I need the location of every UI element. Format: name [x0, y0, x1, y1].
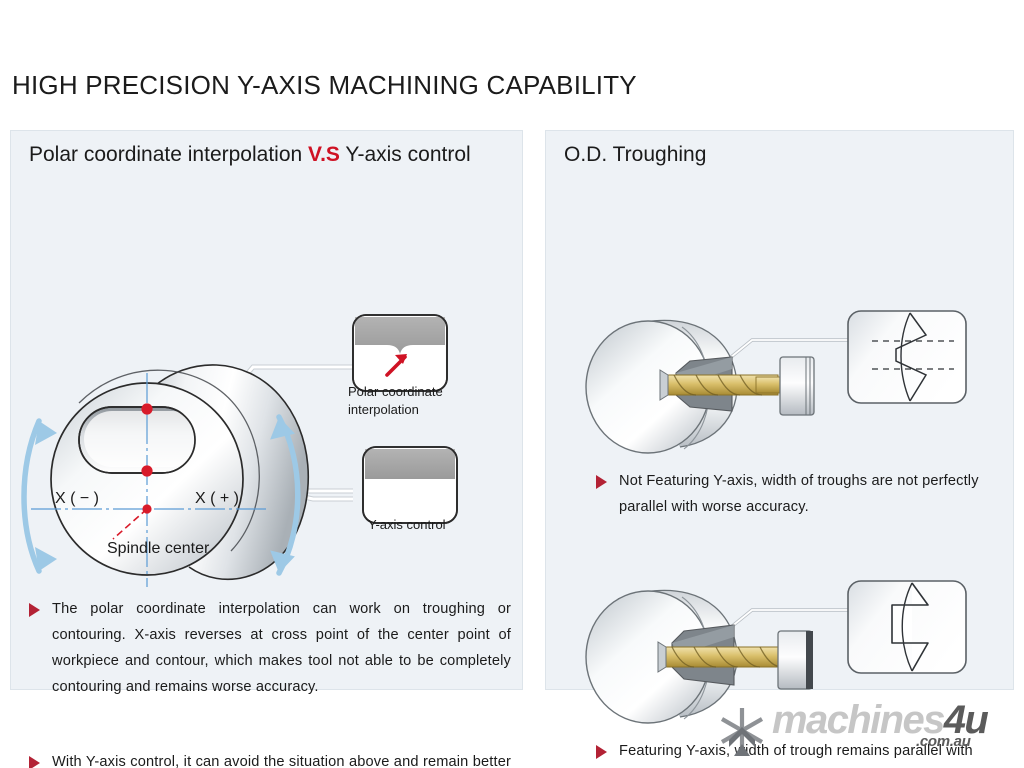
bullet-triangle-icon	[596, 475, 607, 489]
polar-coordinate-callout-box	[353, 315, 447, 391]
end-mill-tool	[660, 370, 782, 400]
cross-point-upper	[141, 403, 152, 414]
bullet-triangle-icon	[29, 603, 40, 617]
asterisk-star-icon	[716, 704, 768, 756]
cross-point-lower	[141, 465, 152, 476]
left-bullet-1-text: The polar coordinate interpolation can w…	[52, 597, 511, 701]
vs-label: V.S	[308, 143, 340, 166]
left-panel-title-part1: Polar coordinate interpolation	[29, 143, 308, 166]
bullet-triangle-icon	[29, 756, 40, 768]
axis-label-x-positive: X ( + )	[195, 490, 239, 507]
left-panel-title: Polar coordinate interpolation V.S Y-axi…	[29, 143, 471, 167]
od-troughing-no-yaxis-diagram	[556, 299, 1006, 464]
trough-detail-box-nonparallel	[848, 311, 966, 403]
left-bullet-1: The polar coordinate interpolation can w…	[29, 597, 511, 701]
polar-coordinate-caption: Polar coordinate interpolation	[348, 383, 508, 418]
right-panel-title: O.D. Troughing	[564, 143, 706, 167]
page-title: HIGH PRECISION Y-AXIS MACHINING CAPABILI…	[12, 70, 637, 101]
axis-label-x-negative: X ( − )	[55, 490, 99, 507]
left-panel-title-part2: Y-axis control	[340, 143, 471, 166]
right-bullet-1-text: Not Featuring Y-axis, width of troughs a…	[619, 469, 996, 521]
panel-polar-vs-yaxis: Polar coordinate interpolation V.S Y-axi…	[10, 130, 523, 690]
slide-root: HIGH PRECISION Y-AXIS MACHINING CAPABILI…	[0, 0, 1024, 768]
machines4u-logo[interactable]: machines4u .com.au	[716, 702, 1016, 756]
y-axis-control-caption: Y-axis control	[368, 516, 528, 534]
bullet-triangle-icon	[596, 745, 607, 759]
tool-holder	[780, 357, 814, 415]
end-mill-tool	[658, 642, 790, 672]
tool-holder	[778, 631, 813, 689]
logo-tld: .com.au	[916, 733, 971, 750]
left-bullet-2: With Y-axis control, it can avoid the si…	[29, 750, 511, 768]
left-bullet-2-text: With Y-axis control, it can avoid the si…	[52, 750, 511, 768]
workpiece-slot	[79, 407, 200, 473]
right-bullet-1: Not Featuring Y-axis, width of troughs a…	[596, 469, 996, 521]
panel-od-troughing: O.D. Troughing	[545, 130, 1014, 690]
polar-interpolation-diagram: X ( − ) X ( + ) Spindle center	[17, 299, 517, 589]
trough-detail-box-parallel	[848, 581, 966, 673]
y-axis-control-callout-box	[363, 447, 457, 523]
spindle-center-label: Spindle center	[107, 540, 210, 557]
